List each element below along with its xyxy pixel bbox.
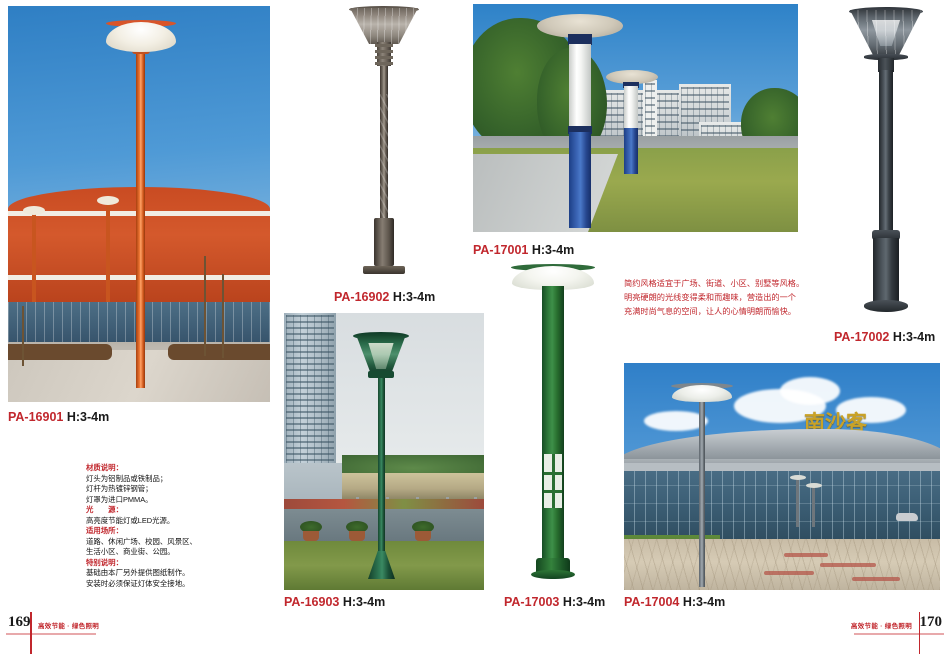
secondary-lamp-pole [106, 202, 110, 302]
plant-pot [349, 531, 365, 541]
secondary-lamp-white-section [624, 86, 638, 130]
specification-block: 材质说明： 灯头为铝制品或铁制品； 灯杆为热镀锌钢管； 灯罩为进口PMMA。 光… [86, 463, 236, 589]
footer-rule-right [854, 633, 944, 635]
product-code: PA-17001 [473, 243, 528, 257]
product-shot-pa-17003 [498, 258, 608, 590]
secondary-lamp-blue-section [624, 128, 638, 174]
plaza-pattern [820, 563, 876, 567]
spec-place-title: 适用场所： [86, 526, 236, 537]
marketing-copy-block: 简约风格适宜于广场、街道、小区、别墅等风格。 明亮硬朗的光线变得柔和而趣味，营造… [624, 277, 834, 319]
lamp-pole [699, 399, 705, 587]
spec-note-line: 基础由本厂另外提供图纸制作。 [86, 568, 236, 579]
collar-ring [375, 44, 393, 47]
spec-source-title: 光 源： [86, 505, 236, 516]
cloud [780, 377, 840, 405]
shade-base-ring [368, 371, 394, 378]
product-code: PA-16902 [334, 290, 389, 304]
collar-ring [375, 62, 393, 65]
plaza-pattern [764, 571, 814, 575]
plant-pot [303, 531, 319, 541]
product-photo-pa-16901 [8, 6, 270, 402]
product-label-pa-16901: PA-16901 H:3-4m [8, 410, 109, 424]
secondary-lamp-pole [796, 479, 799, 527]
window-mullion-horizontal [544, 472, 562, 475]
lamp-pole [542, 286, 564, 568]
product-code: PA-17002 [834, 330, 889, 344]
spec-note-title: 特别说明： [86, 558, 236, 569]
pole-twist-texture [380, 94, 388, 224]
footer-tagline-left: 高效节能 · 绿色照明 [38, 620, 99, 630]
plaza-pattern [852, 577, 900, 581]
secondary-lamp-head [806, 483, 822, 488]
collar-ring [375, 50, 393, 53]
product-shot-pa-16902 [330, 4, 438, 282]
lamp-pole [879, 70, 893, 234]
footer-rule-left [6, 633, 96, 635]
collar-ring [375, 56, 393, 59]
product-height: H:3-4m [67, 410, 109, 424]
page-footer: 169 高效节能 · 绿色照明 170 高效节能 · 绿色照明 [0, 600, 950, 654]
lamp-blue-section [569, 132, 591, 228]
spec-place-line: 生活小区、商业街、公园。 [86, 547, 236, 558]
terminal-glass-facade [624, 467, 940, 541]
catalog-page: PA-16901 H:3-4m PA-16902 H:3-4m [0, 0, 950, 654]
spec-place-line: 道路、休闲广场、校园、风景区、 [86, 537, 236, 548]
footer-divider-right [919, 612, 921, 654]
page-number-right: 170 [920, 614, 943, 631]
secondary-lamp-head [23, 206, 45, 215]
secondary-lamp-head [790, 475, 806, 480]
plaza-pattern [784, 553, 828, 557]
spec-material-line: 灯罩为进口PMMA。 [86, 495, 236, 506]
footer-tagline-right: 高效节能 · 绿色照明 [851, 620, 912, 630]
product-label-pa-17002: PA-17002 H:3-4m [834, 330, 935, 344]
window-mullion-vertical [552, 454, 555, 508]
product-photo-pa-17001 [473, 4, 798, 232]
lamp-pole [378, 375, 385, 555]
spec-source-line: 高亮度节能灯或LED光源。 [86, 516, 236, 527]
product-code: PA-16901 [8, 410, 63, 424]
spec-material-title: 材质说明： [86, 463, 236, 474]
base-plate [363, 266, 405, 274]
secondary-lamp-pole [32, 212, 36, 302]
window-mullion-horizontal [544, 490, 562, 493]
spec-material-line: 灯杆为热镀锌钢管； [86, 484, 236, 495]
product-photo-pa-16903 [284, 313, 484, 590]
parked-car [896, 513, 918, 521]
conical-shade [350, 8, 418, 44]
hedge [168, 344, 270, 360]
pergola [342, 473, 484, 499]
page-number-left: 169 [8, 614, 31, 631]
product-label-pa-17001: PA-17001 H:3-4m [473, 243, 574, 257]
pole-base [374, 218, 394, 266]
footer-divider-left [30, 612, 32, 654]
product-label-pa-16902: PA-16902 H:3-4m [334, 290, 435, 304]
plant-pot [415, 531, 431, 541]
tree [222, 274, 224, 358]
product-height: H:3-4m [893, 330, 935, 344]
product-height: H:3-4m [532, 243, 574, 257]
base-plate [531, 570, 575, 579]
base-plate [864, 300, 908, 312]
lamp-head-dome [672, 385, 732, 402]
secondary-lamp-pole [812, 487, 815, 527]
paved-plaza [624, 539, 940, 590]
entrance-canopy [624, 463, 940, 471]
tree [22, 306, 24, 366]
secondary-lamp-head [97, 196, 119, 205]
product-photo-pa-17004: 南沙客 [624, 363, 940, 590]
tree [204, 256, 206, 356]
marketing-copy-line: 充满时尚气息的空间，让人的心情明朗而愉快。 [624, 305, 834, 319]
pole-base [873, 238, 899, 302]
marketing-copy-line: 明亮硬朗的光线变得柔和而趣味，营造出的一个 [624, 291, 834, 305]
spec-note-line: 安装时必须保证灯体安全接地。 [86, 579, 236, 590]
marketing-copy-line: 简约风格适宜于广场、街道、小区、别墅等风格。 [624, 277, 834, 291]
product-shot-pa-17002 [826, 4, 946, 326]
lamp-white-section [569, 44, 591, 128]
product-height: H:3-4m [393, 290, 435, 304]
lamp-pole [136, 50, 145, 388]
spec-material-line: 灯头为铝制品或铁制品； [86, 474, 236, 485]
